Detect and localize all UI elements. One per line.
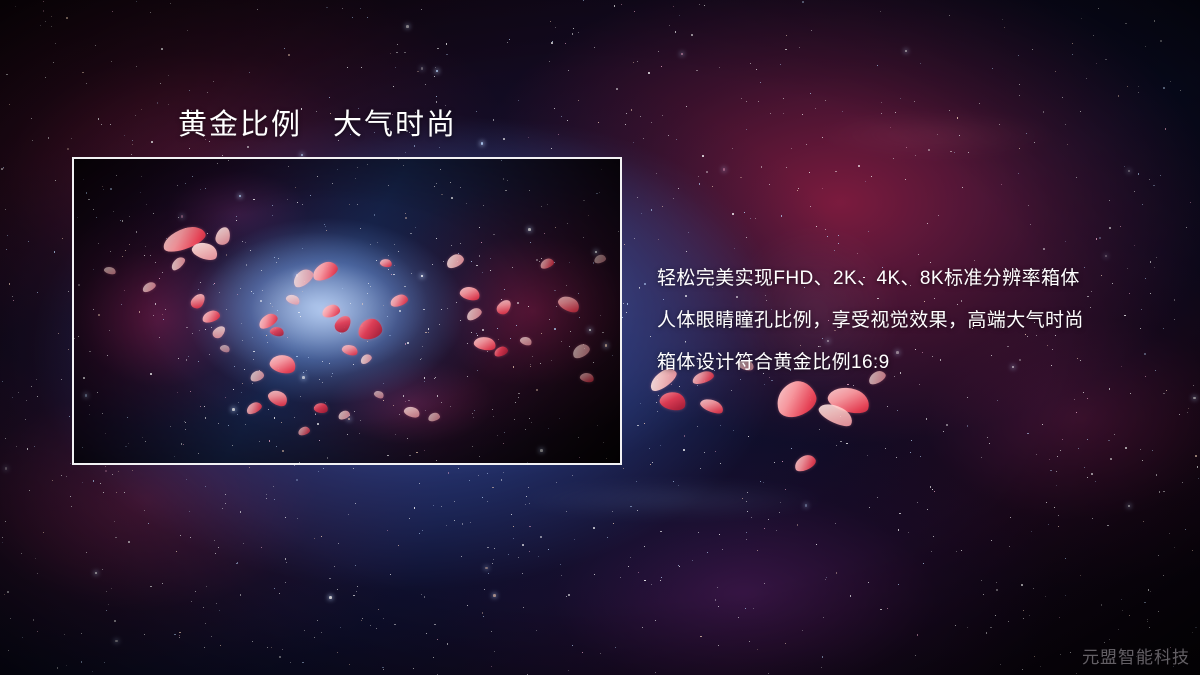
- body-line-3: 箱体设计符合黄金比例16:9: [657, 342, 1157, 384]
- petal: [792, 452, 818, 473]
- body-line-2: 人体眼睛瞳孔比例，享受视觉效果，高端大气时尚: [657, 300, 1157, 342]
- image-frame-panel: [72, 157, 622, 465]
- body-text-block: 轻松完美实现FHD、2K、4K、8K标准分辨率箱体 人体眼睛瞳孔比例，享受视觉效…: [657, 258, 1157, 384]
- panel-vignette-overlay: [74, 159, 620, 463]
- petal: [699, 396, 726, 417]
- presentation-slide: 黄金比例 大气时尚 轻松完美实现FHD、2K、4K、8K标准分辨率箱体 人体眼睛…: [0, 0, 1200, 675]
- petal: [658, 389, 688, 413]
- body-line-1: 轻松完美实现FHD、2K、4K、8K标准分辨率箱体: [657, 258, 1157, 300]
- slide-title: 黄金比例 大气时尚: [178, 101, 457, 143]
- watermark-label: 元盟智能科技: [1082, 643, 1190, 668]
